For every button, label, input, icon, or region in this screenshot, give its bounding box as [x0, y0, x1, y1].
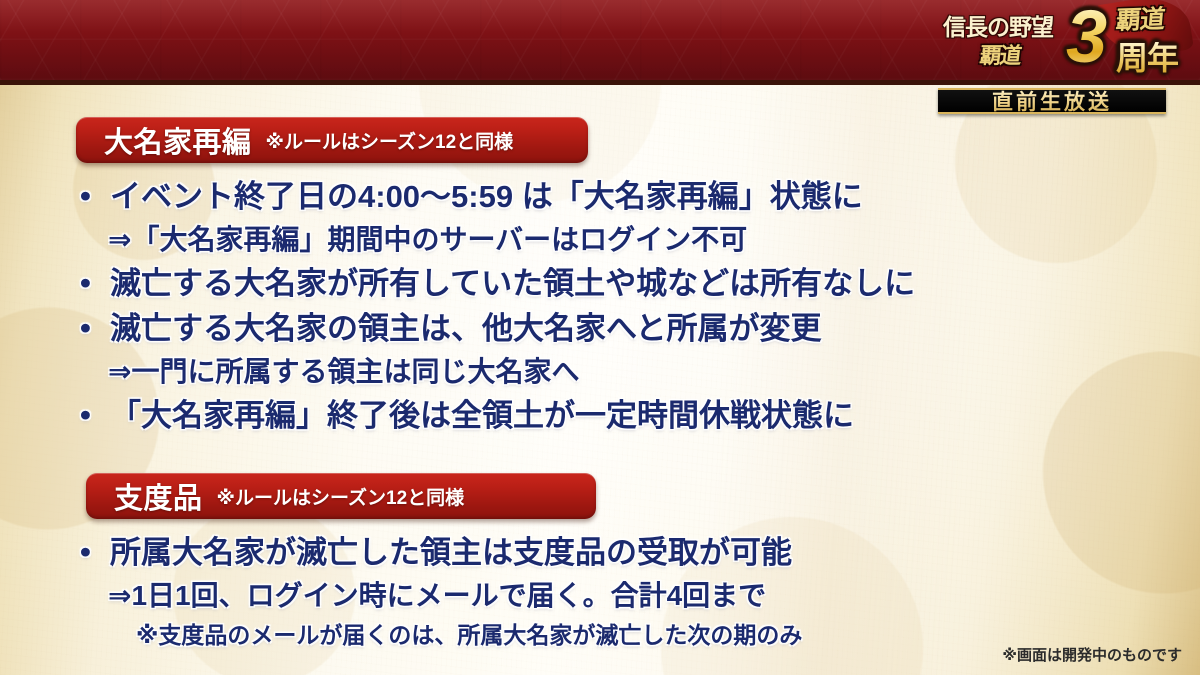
sub-line: ⇒一門に所属する領主は同じ大名家へ: [78, 351, 1128, 393]
bullet-line: イベント終了日の4:00〜5:59 は「大名家再編」状態に: [78, 174, 1128, 219]
bullet-line: 所属大名家が滅亡した領主は支度品の受取が可能: [78, 530, 1128, 575]
section-note: ※ルールはシーズン12と同様: [217, 483, 465, 510]
brand-anniversary-number: 3: [1066, 0, 1107, 74]
section-header-daimyo-reorg: 大名家再編 ※ルールはシーズン12と同様: [76, 117, 588, 163]
brand-game-title: 信長の野望: [928, 8, 1068, 42]
section-body-daimyo-reorg: イベント終了日の4:00〜5:59 は「大名家再編」状態に ⇒「大名家再編」期間…: [78, 174, 1128, 438]
bullet-line: 滅亡する大名家の領主は、他大名家へと所属が変更: [78, 306, 1128, 351]
slide-root: イベント「嵐世鳴動」⑤ シーズン13 信長の野望 覇道 覇道 3 周年 直前生放…: [0, 0, 1200, 675]
bullet-line: 滅亡する大名家が所有していた領土や城などは所有なしに: [78, 261, 1128, 306]
section-title: 支度品: [114, 475, 203, 517]
content-area: 大名家再編 ※ルールはシーズン12と同様 イベント終了日の4:00〜5:59 は…: [0, 90, 1200, 675]
sub-sub-line: ※支度品のメールが届くのは、所属大名家が滅亡した次の期のみ: [78, 617, 1128, 654]
section-title: 大名家再編: [104, 119, 252, 161]
section-body-shitakuhin: 所属大名家が滅亡した領主は支度品の受取が可能 ⇒1日1回、ログイン時にメールで届…: [78, 530, 1128, 654]
section-header-shitakuhin: 支度品 ※ルールはシーズン12と同様: [86, 473, 596, 519]
bullet-line: 「大名家再編」終了後は全領土が一定時間休戦状態に: [78, 393, 1128, 438]
brand-anniversary-brand: 覇道: [1115, 7, 1165, 34]
brand-logo: 信長の野望 覇道 覇道 3 周年 直前生放送: [920, 2, 1190, 114]
live-broadcast-label: 直前生放送: [992, 86, 1112, 116]
development-disclaimer: ※画面は開発中のものです: [1002, 644, 1182, 665]
sub-line: ⇒「大名家再編」期間中のサーバーはログイン不可: [78, 219, 1128, 261]
brand-game-subtitle: 覇道: [940, 38, 1060, 70]
brand-anniversary-suffix: 周年: [1116, 42, 1178, 74]
live-broadcast-banner: 直前生放送: [938, 88, 1166, 114]
section-note: ※ルールはシーズン12と同様: [266, 127, 514, 154]
sub-line: ⇒1日1回、ログイン時にメールで届く。合計4回まで: [78, 575, 1128, 617]
